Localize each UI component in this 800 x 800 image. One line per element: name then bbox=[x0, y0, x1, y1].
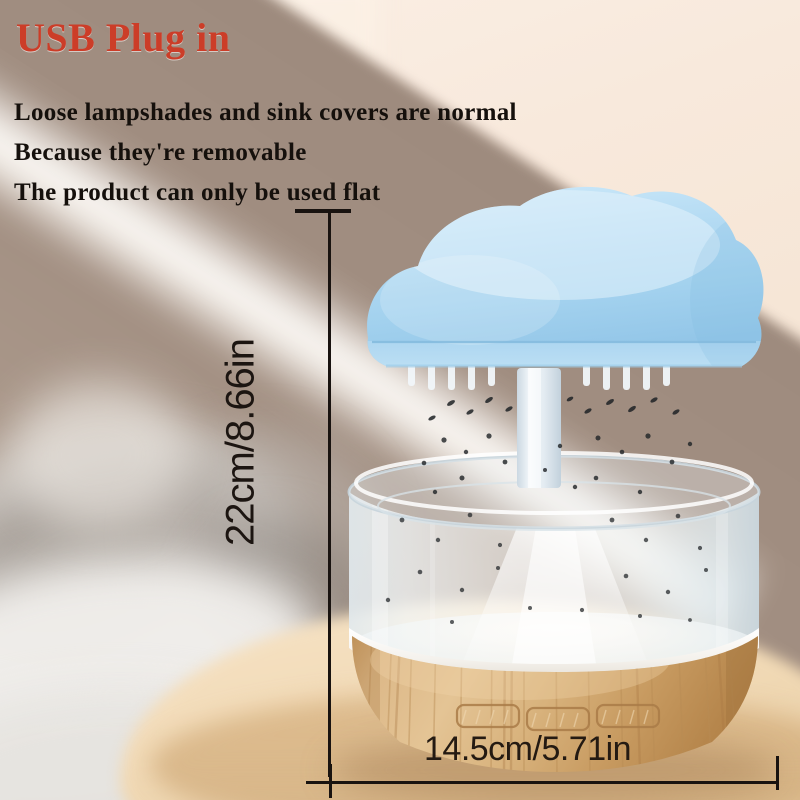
product-image: 22cm/8.66in 14.5cm/5.71in USB Plug in Lo… bbox=[0, 0, 800, 800]
width-dimension-line bbox=[306, 781, 778, 784]
mist-stem bbox=[517, 368, 561, 488]
width-dimension-label: 14.5cm/5.71in bbox=[424, 730, 631, 769]
width-dimension-tick-right bbox=[776, 756, 779, 790]
height-dimension-label: 22cm/8.66in bbox=[219, 308, 264, 578]
note-line-2: Because they're removable bbox=[14, 139, 307, 167]
note-line-3: The product can only be used flat bbox=[14, 179, 380, 207]
height-dimension-line bbox=[328, 211, 331, 777]
height-dimension-cap bbox=[295, 209, 351, 213]
note-line-1: Loose lampshades and sink covers are nor… bbox=[14, 99, 517, 127]
cloud-lid bbox=[350, 187, 800, 390]
width-dimension-tick-left bbox=[329, 764, 332, 798]
headline-usb-plug-in: USB Plug in bbox=[16, 14, 230, 61]
